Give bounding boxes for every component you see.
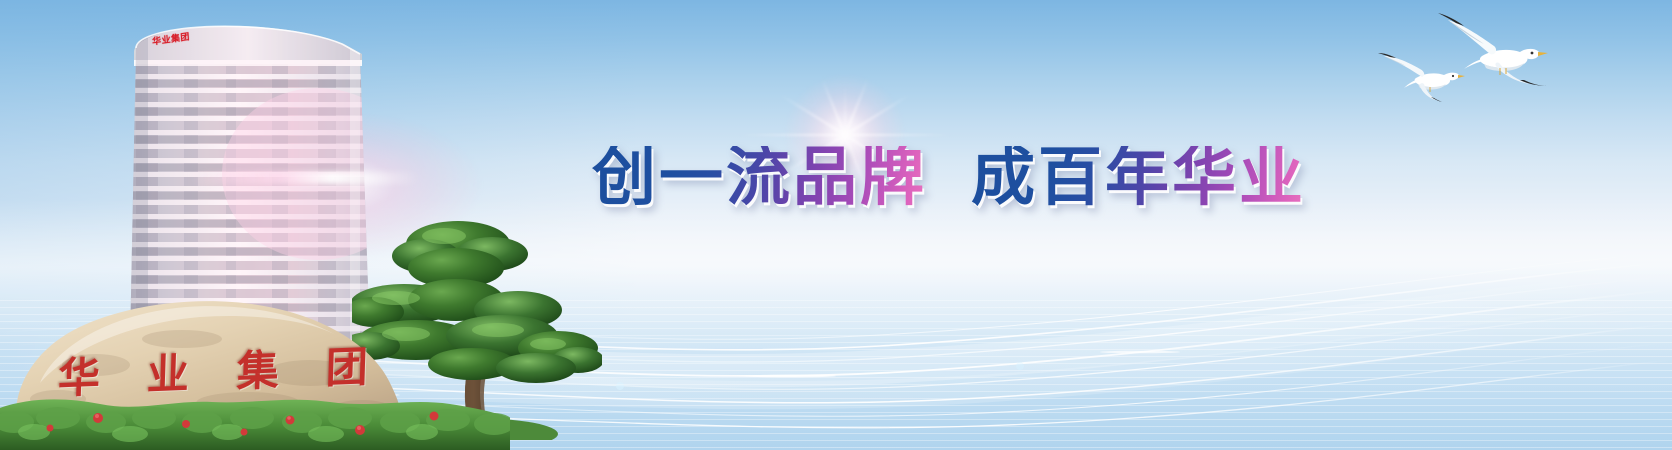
green-hedge	[0, 388, 510, 450]
green-hedge-graphic	[0, 388, 510, 450]
hero-banner: 华业集团	[0, 0, 1672, 450]
